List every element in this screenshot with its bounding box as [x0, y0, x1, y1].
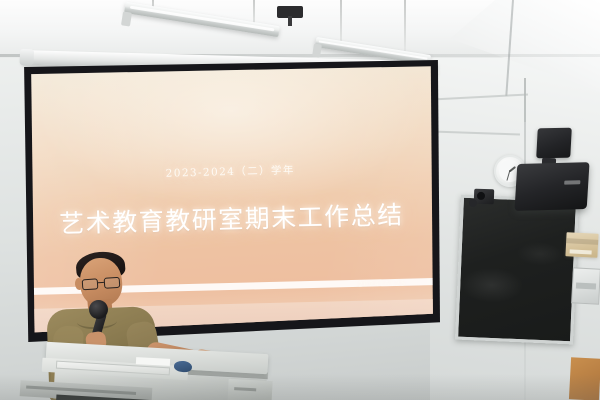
- classroom-presentation-photo: 2023-2024（二）学年 艺术教育教研室期末工作总结 2024.6.25: [0, 0, 600, 400]
- electrical-panel: [571, 267, 600, 304]
- wall-speaker-upper: [536, 128, 572, 159]
- wall-speaker-lower: [514, 162, 589, 211]
- cardboard-box: [565, 232, 598, 258]
- clock-minute-hand: [507, 171, 511, 181]
- eyeglass-lens-right: [104, 277, 121, 289]
- floor-shadow: [0, 374, 600, 400]
- camera-mount-arm: [469, 199, 477, 207]
- wall-conduit: [524, 78, 526, 122]
- eyeglass-lens-left: [82, 278, 99, 290]
- roller-end-cap: [20, 49, 34, 65]
- projector-mount-stem: [288, 16, 292, 26]
- blackboard: [455, 195, 579, 345]
- light-suspension-rod: [404, 0, 406, 52]
- light-suspension-rod: [340, 0, 342, 46]
- microphone-icon: [89, 300, 108, 319]
- clock-center-pin: [509, 170, 511, 172]
